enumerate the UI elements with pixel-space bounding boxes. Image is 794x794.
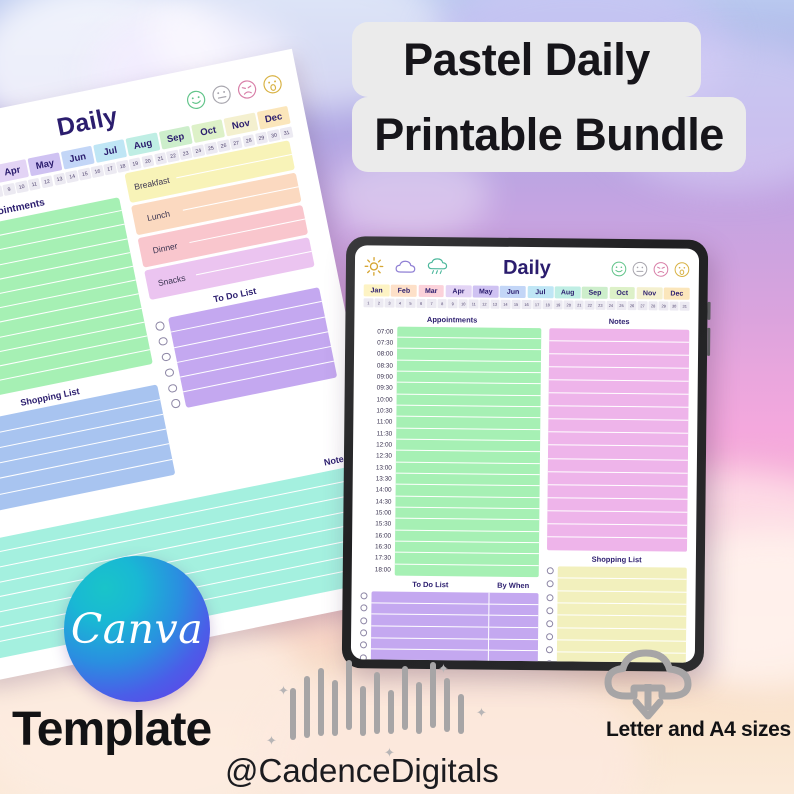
soundwave-bar bbox=[290, 688, 296, 740]
time-label: 08:30 bbox=[363, 360, 397, 372]
happy-face-icon bbox=[611, 261, 627, 277]
canva-badge: Canva bbox=[64, 556, 210, 702]
sparkle-icon: ✦ bbox=[438, 662, 449, 675]
template-label: Template bbox=[12, 702, 211, 757]
soundwave-bar bbox=[318, 668, 324, 736]
day-cell[interactable]: 28 bbox=[648, 301, 658, 310]
day-cell[interactable]: 19 bbox=[128, 157, 142, 170]
to-do-list-label: To Do List bbox=[373, 580, 489, 590]
sparkle-icon: ✦ bbox=[266, 734, 277, 747]
day-cell[interactable]: 26 bbox=[627, 301, 637, 310]
weather-icon-group bbox=[364, 256, 464, 277]
month-cell[interactable]: Dec bbox=[256, 106, 290, 130]
day-cell[interactable]: 22 bbox=[166, 150, 180, 163]
day-cell[interactable]: 12 bbox=[40, 175, 54, 188]
appointments-block: 07:0007:3008:0008:3009:0009:3010:0010:30… bbox=[361, 326, 541, 577]
cloud-icon bbox=[395, 258, 416, 275]
time-column: 07:0007:3008:0008:3009:0009:3010:0010:30… bbox=[361, 326, 398, 576]
day-cell[interactable]: 12 bbox=[480, 300, 490, 309]
tablet-planner-title: Daily bbox=[464, 256, 590, 280]
tablet-left-column: Appointments 07:0007:3008:0008:3009:0009… bbox=[359, 310, 541, 663]
month-cell[interactable]: Apr bbox=[0, 159, 29, 183]
day-cell[interactable]: 31 bbox=[680, 302, 690, 311]
day-cell[interactable]: 24 bbox=[192, 144, 206, 157]
tablet-day-selector-row[interactable]: 1234567891011121314151617181920212223242… bbox=[364, 298, 690, 310]
soundwave-bar bbox=[416, 682, 422, 734]
checkbox[interactable] bbox=[167, 383, 177, 393]
checkbox[interactable] bbox=[360, 617, 367, 624]
soundwave-bar bbox=[430, 662, 436, 728]
day-cell[interactable]: 17 bbox=[532, 300, 542, 309]
sparkle-icon: ✦ bbox=[278, 684, 289, 697]
day-cell[interactable]: 27 bbox=[229, 137, 243, 150]
day-cell[interactable]: 16 bbox=[91, 165, 105, 178]
month-cell[interactable]: Oct bbox=[191, 119, 225, 143]
mood-icon-group bbox=[590, 261, 690, 278]
month-cell[interactable]: Sep bbox=[582, 287, 608, 299]
tablet-screen: Daily bbox=[351, 245, 699, 663]
time-label: 15:30 bbox=[361, 519, 395, 531]
day-cell[interactable]: 28 bbox=[242, 134, 256, 147]
neutral-face-icon bbox=[210, 83, 234, 107]
day-cell[interactable]: 2 bbox=[374, 298, 384, 307]
sad-face-icon bbox=[653, 261, 669, 277]
ruled-line[interactable] bbox=[395, 564, 539, 577]
title-line-1: Pastel Daily bbox=[352, 22, 701, 97]
canva-label: Canva bbox=[71, 605, 203, 653]
ruled-line[interactable] bbox=[547, 537, 688, 552]
time-label: 18:00 bbox=[361, 564, 395, 576]
month-cell[interactable]: Nov bbox=[637, 287, 663, 299]
day-cell[interactable]: 10 bbox=[15, 180, 29, 193]
time-label: 13:00 bbox=[362, 462, 396, 474]
month-cell[interactable]: Dec bbox=[664, 287, 690, 299]
checkbox[interactable] bbox=[161, 352, 171, 362]
checkbox[interactable] bbox=[546, 633, 553, 640]
month-cell[interactable]: Feb bbox=[391, 285, 417, 297]
month-cell[interactable]: Jan bbox=[364, 284, 390, 296]
ruled-line[interactable] bbox=[488, 639, 537, 651]
day-cell[interactable]: 14 bbox=[65, 170, 79, 183]
checkbox[interactable] bbox=[546, 620, 553, 627]
day-cell[interactable]: 7 bbox=[427, 299, 437, 308]
day-cell[interactable]: 15 bbox=[78, 168, 92, 181]
time-label: 17:30 bbox=[361, 553, 395, 565]
soundwave-bar bbox=[304, 676, 310, 738]
day-cell[interactable]: 25 bbox=[617, 301, 627, 310]
time-label: 14:30 bbox=[361, 496, 395, 508]
day-cell[interactable]: 11 bbox=[469, 299, 479, 308]
time-label: 13:30 bbox=[362, 473, 396, 485]
time-label: 15:00 bbox=[361, 507, 395, 519]
time-label: 10:00 bbox=[363, 394, 397, 406]
ruled-line[interactable] bbox=[489, 616, 538, 628]
to-do-list-block bbox=[359, 591, 538, 662]
time-label: 08:00 bbox=[363, 349, 397, 361]
to-do-bywhen-column[interactable] bbox=[487, 593, 538, 663]
soundwave-bar bbox=[458, 694, 464, 734]
month-cell[interactable]: Aug bbox=[555, 286, 581, 298]
day-cell[interactable]: 13 bbox=[53, 173, 67, 186]
day-cell[interactable]: 21 bbox=[154, 152, 168, 165]
month-cell[interactable]: Jul bbox=[93, 139, 127, 163]
time-label: 09:00 bbox=[363, 371, 397, 383]
checkbox[interactable] bbox=[158, 336, 168, 346]
month-cell[interactable]: Jun bbox=[500, 286, 526, 298]
month-cell[interactable]: Jul bbox=[527, 286, 553, 298]
ruled-line[interactable] bbox=[489, 628, 538, 640]
month-cell[interactable]: May bbox=[28, 152, 62, 176]
day-cell[interactable]: 23 bbox=[596, 301, 606, 310]
checkbox[interactable] bbox=[155, 321, 165, 331]
rain-cloud-icon bbox=[427, 257, 448, 276]
day-cell[interactable]: 17 bbox=[103, 162, 117, 175]
checkbox[interactable] bbox=[546, 594, 553, 601]
meal-label: Snacks bbox=[144, 261, 199, 300]
day-cell[interactable]: 23 bbox=[179, 147, 193, 160]
month-cell[interactable]: Nov bbox=[224, 112, 258, 136]
month-cell[interactable]: Mar bbox=[418, 285, 444, 297]
day-cell[interactable]: 5 bbox=[406, 299, 416, 308]
month-cell[interactable]: Apr bbox=[446, 285, 472, 297]
time-label: 14:00 bbox=[362, 485, 396, 497]
day-cell[interactable]: 1 bbox=[364, 298, 374, 307]
checkbox[interactable] bbox=[546, 581, 553, 588]
day-cell[interactable]: 13 bbox=[490, 300, 500, 309]
tablet-planner-header: Daily bbox=[364, 254, 690, 281]
day-cell[interactable]: 6 bbox=[416, 299, 426, 308]
checkbox[interactable] bbox=[360, 592, 367, 599]
day-cell[interactable]: 18 bbox=[116, 160, 130, 173]
checkbox[interactable] bbox=[171, 399, 181, 409]
day-cell[interactable]: 20 bbox=[564, 300, 574, 309]
day-cell[interactable]: 31 bbox=[280, 126, 294, 139]
soundwave-bar bbox=[402, 666, 408, 730]
day-cell[interactable]: 10 bbox=[458, 299, 468, 308]
ruled-line[interactable] bbox=[489, 593, 538, 605]
ruled-line[interactable] bbox=[489, 604, 538, 616]
month-cell[interactable]: Sep bbox=[158, 126, 192, 150]
day-cell[interactable]: 9 bbox=[2, 183, 16, 196]
day-cell[interactable]: 18 bbox=[543, 300, 553, 309]
time-label: 16:30 bbox=[361, 541, 395, 553]
time-label: 07:00 bbox=[363, 326, 397, 338]
month-cell[interactable]: Aug bbox=[126, 132, 160, 156]
checkbox[interactable] bbox=[164, 368, 174, 378]
month-cell[interactable]: Jun bbox=[60, 146, 94, 170]
shopping-checkbox-column[interactable] bbox=[545, 566, 557, 662]
day-cell[interactable]: 11 bbox=[27, 178, 41, 191]
surprised-face-icon bbox=[261, 73, 285, 97]
checkbox[interactable] bbox=[360, 605, 367, 612]
sizes-label: Letter and A4 sizes bbox=[606, 718, 791, 742]
sad-face-icon bbox=[235, 78, 259, 102]
todo-checkbox-column[interactable] bbox=[359, 591, 371, 662]
time-label: 12:30 bbox=[362, 451, 396, 463]
cloud-download-icon bbox=[600, 648, 696, 722]
time-label: 09:30 bbox=[363, 383, 397, 395]
soundwave-bar bbox=[444, 678, 450, 732]
day-cell[interactable]: 8 bbox=[437, 299, 447, 308]
title-line-2: Printable Bundle bbox=[352, 97, 746, 172]
to-do-grid[interactable] bbox=[370, 592, 538, 663]
time-label: 11:00 bbox=[362, 417, 396, 429]
day-cell[interactable]: 14 bbox=[501, 300, 511, 309]
surprised-face-icon bbox=[674, 262, 690, 278]
day-cell[interactable]: 19 bbox=[553, 300, 563, 309]
neutral-face-icon bbox=[632, 261, 648, 277]
day-cell[interactable]: 4 bbox=[395, 299, 405, 308]
day-cell[interactable]: 29 bbox=[255, 132, 269, 145]
ruled-line[interactable] bbox=[488, 651, 537, 663]
day-cell[interactable]: 22 bbox=[585, 301, 595, 310]
to-do-task-column[interactable] bbox=[370, 592, 488, 663]
day-cell[interactable]: 9 bbox=[448, 299, 458, 308]
sparkle-icon: ✦ bbox=[476, 706, 487, 719]
checkbox[interactable] bbox=[545, 660, 552, 663]
notes-lines[interactable] bbox=[547, 328, 690, 552]
appointments-label: Appointments bbox=[363, 314, 541, 325]
mood-icon-group bbox=[173, 73, 285, 115]
checkbox[interactable] bbox=[546, 567, 553, 574]
checkbox[interactable] bbox=[360, 629, 367, 636]
by-when-label: By When bbox=[488, 581, 538, 591]
soundwave-decoration: ✦✦✦✦✦ bbox=[290, 660, 466, 752]
time-label: 16:00 bbox=[361, 530, 395, 542]
sun-icon bbox=[364, 256, 384, 276]
soundwave-bar bbox=[332, 680, 338, 736]
day-cell[interactable]: 25 bbox=[204, 142, 218, 155]
month-cell[interactable]: Oct bbox=[609, 287, 635, 299]
day-cell[interactable]: 30 bbox=[669, 302, 679, 311]
time-label: 12:00 bbox=[362, 439, 396, 451]
soundwave-bar bbox=[346, 660, 352, 730]
day-cell[interactable]: 27 bbox=[638, 301, 648, 310]
time-label: 07:30 bbox=[363, 337, 397, 349]
month-cell[interactable]: May bbox=[473, 285, 499, 297]
listing-image: Daily bbox=[0, 0, 794, 794]
appointments-lines[interactable] bbox=[0, 197, 153, 399]
day-cell[interactable]: 26 bbox=[217, 139, 231, 152]
time-label: 11:30 bbox=[362, 428, 396, 440]
day-cell[interactable]: 30 bbox=[267, 129, 281, 142]
shop-handle: @CadenceDigitals bbox=[225, 752, 499, 790]
soundwave-bar bbox=[374, 672, 380, 734]
shopping-list-label: Shopping List bbox=[546, 554, 687, 564]
todo-header-row: To Do List By When bbox=[361, 575, 539, 593]
day-cell[interactable]: 21 bbox=[574, 301, 584, 310]
day-cell[interactable]: 3 bbox=[385, 299, 395, 308]
tablet-right-column: Notes Shopping List bbox=[545, 312, 690, 663]
time-label: 10:30 bbox=[362, 405, 396, 417]
day-cell[interactable]: 20 bbox=[141, 155, 155, 168]
checkbox[interactable] bbox=[360, 642, 367, 649]
day-cell[interactable]: 29 bbox=[659, 301, 669, 310]
day-cell[interactable]: 16 bbox=[522, 300, 532, 309]
tablet-planner-body: Appointments 07:0007:3008:0008:3009:0009… bbox=[359, 310, 689, 663]
appointments-lines[interactable] bbox=[395, 326, 541, 577]
day-cell[interactable]: 24 bbox=[606, 301, 616, 310]
day-cell[interactable]: 15 bbox=[511, 300, 521, 309]
checkbox[interactable] bbox=[546, 607, 553, 614]
soundwave-bar bbox=[388, 690, 394, 734]
tablet-device-mockup: Daily bbox=[342, 236, 709, 672]
soundwave-bar bbox=[360, 686, 366, 736]
happy-face-icon bbox=[184, 88, 208, 112]
checkbox[interactable] bbox=[545, 647, 552, 654]
tablet-month-selector-row[interactable]: Jan Feb Mar Apr May Jun Jul Aug Sep Oct … bbox=[364, 284, 690, 299]
notes-label: Notes bbox=[549, 316, 690, 326]
